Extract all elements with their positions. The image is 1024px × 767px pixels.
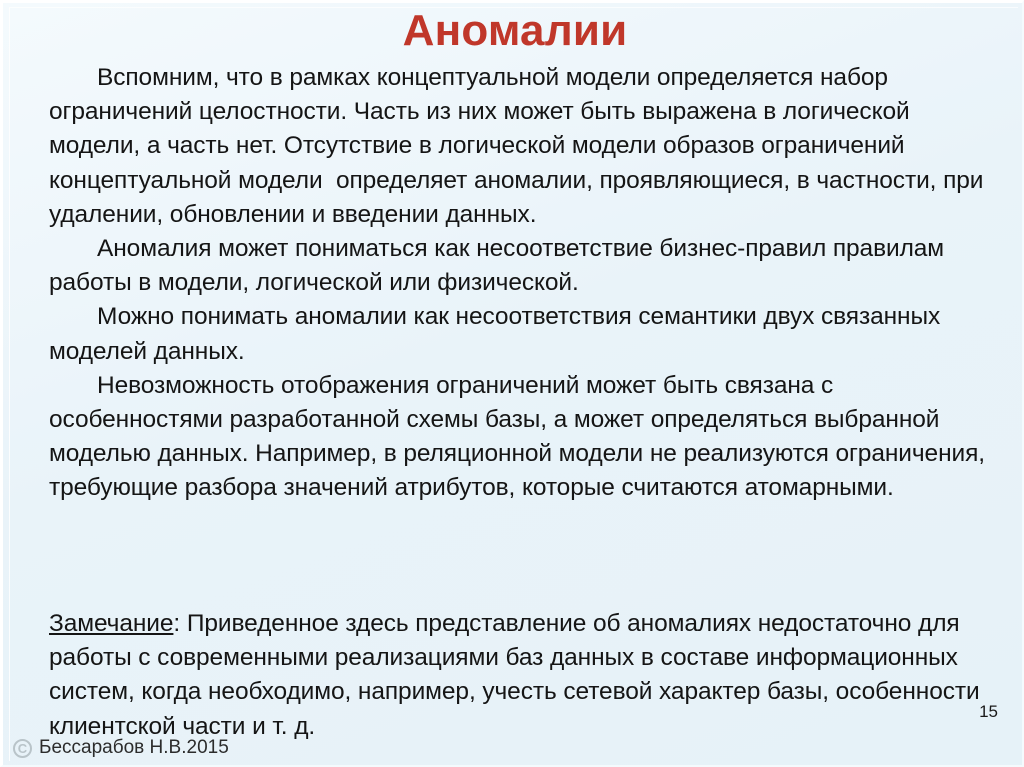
note-separator: :	[173, 610, 186, 637]
copyright-icon: C	[13, 739, 32, 758]
page-title: Аномалии	[3, 5, 1024, 57]
note-block: Замечание: Приведенное здесь представлен…	[49, 607, 1009, 744]
slide: Аномалии Вспомним, что в рамках концепту…	[0, 0, 1024, 767]
note-label: Замечание	[49, 610, 173, 637]
note-text: Приведенное здесь представление об анома…	[49, 610, 986, 740]
footer-author: Бессарабов Н.В.2015	[39, 737, 229, 759]
page-number: 15	[979, 703, 998, 720]
paragraph-definition: Вспомним, что в рамках концептуальной мо…	[49, 61, 1001, 232]
footer: C Бессарабов Н.В.2015	[13, 737, 229, 759]
slide-body: Вспомним, что в рамках концептуальной мо…	[49, 61, 1001, 506]
paragraph-constraints: Невозможность отображения ограничений мо…	[49, 369, 1001, 506]
paragraph-semantics: Можно понимать аномалии как несоответств…	[49, 300, 1001, 368]
paragraph-business-rules: Аномалия может пониматься как несоответс…	[49, 232, 1001, 300]
